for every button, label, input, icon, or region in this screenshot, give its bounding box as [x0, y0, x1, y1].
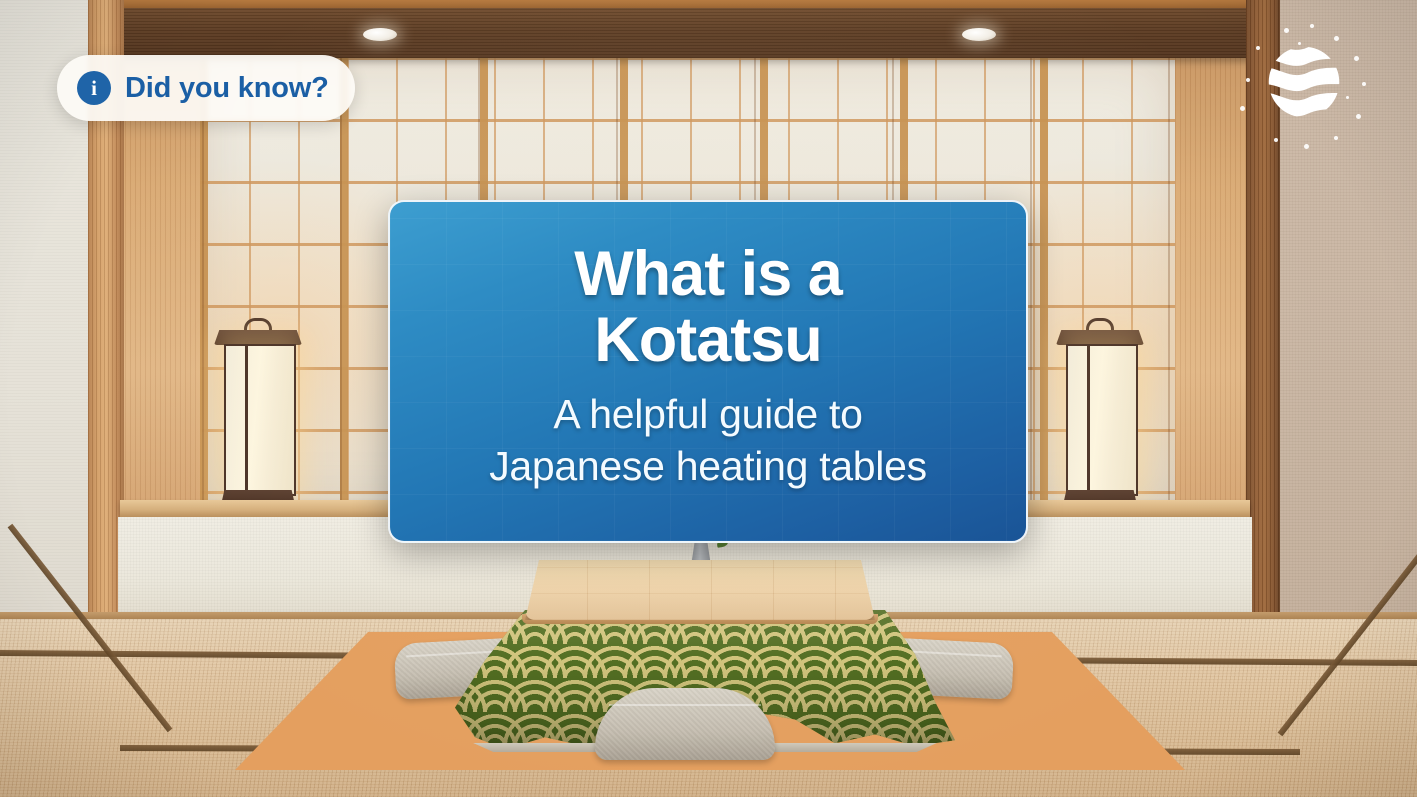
lantern-paper-panel	[1066, 344, 1138, 496]
ceiling-beam	[118, 8, 1252, 58]
recessed-downlight	[962, 28, 996, 41]
title-card: What is a Kotatsu A helpful guide to Jap…	[388, 200, 1028, 543]
andon-lantern-right	[1062, 318, 1138, 518]
kotatsu-table	[395, 548, 1015, 778]
title-subheading-line1: A helpful guide to	[553, 391, 862, 437]
info-icon: i	[77, 71, 111, 105]
lantern-cap	[1056, 330, 1144, 345]
lantern-paper-panel	[224, 344, 296, 496]
kotatsu-tabletop	[525, 560, 875, 620]
floor-cushion-front	[595, 688, 775, 760]
did-you-know-badge[interactable]: i Did you know?	[57, 55, 355, 121]
title-subheading: A helpful guide to Japanese heating tabl…	[489, 389, 927, 492]
striped-planet-logo[interactable]	[1262, 40, 1346, 124]
cushion-seam	[609, 704, 760, 706]
andon-lantern-left	[220, 318, 296, 518]
title-heading-line1: What is a	[574, 239, 842, 309]
lantern-cap	[214, 330, 302, 345]
title-heading: What is a Kotatsu	[574, 242, 842, 373]
title-subheading-line2: Japanese heating tables	[489, 443, 927, 489]
slide-canvas: i Did you know? What is a Kotatsu A help…	[0, 0, 1417, 797]
title-heading-line2: Kotatsu	[594, 305, 822, 375]
recessed-downlight	[363, 28, 397, 41]
badge-label: Did you know?	[125, 72, 329, 105]
